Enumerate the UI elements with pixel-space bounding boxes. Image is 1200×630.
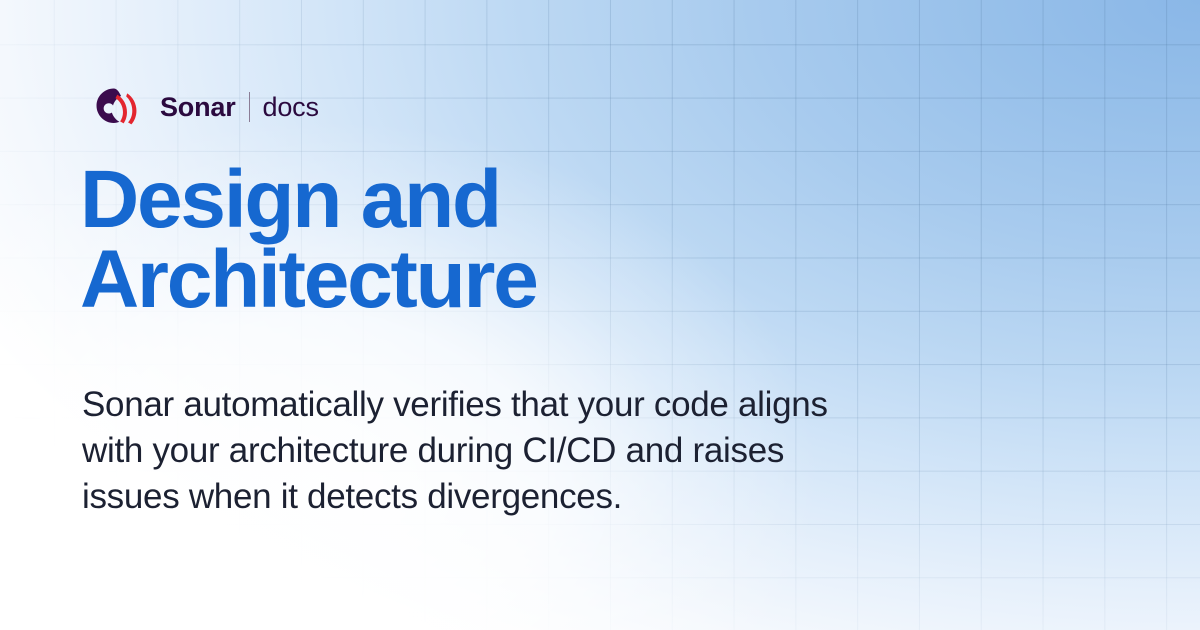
- card-content: Sonar docs Design and Architecture Sonar…: [80, 0, 1080, 630]
- page-title-line-2: Architecture: [80, 234, 537, 325]
- page-title-line-1: Design and: [80, 154, 500, 245]
- brand-name: Sonar: [160, 94, 236, 121]
- brand-product: docs: [263, 94, 319, 121]
- brand-text: Sonar docs: [160, 92, 319, 122]
- page-description: Sonar automatically verifies that your c…: [82, 382, 842, 520]
- sonar-logo-waves-icon: [106, 86, 148, 128]
- brand-lockup[interactable]: Sonar docs: [94, 86, 319, 128]
- social-card: Sonar docs Design and Architecture Sonar…: [0, 0, 1200, 630]
- page-title: Design and Architecture: [80, 160, 537, 319]
- brand-divider: [249, 92, 250, 122]
